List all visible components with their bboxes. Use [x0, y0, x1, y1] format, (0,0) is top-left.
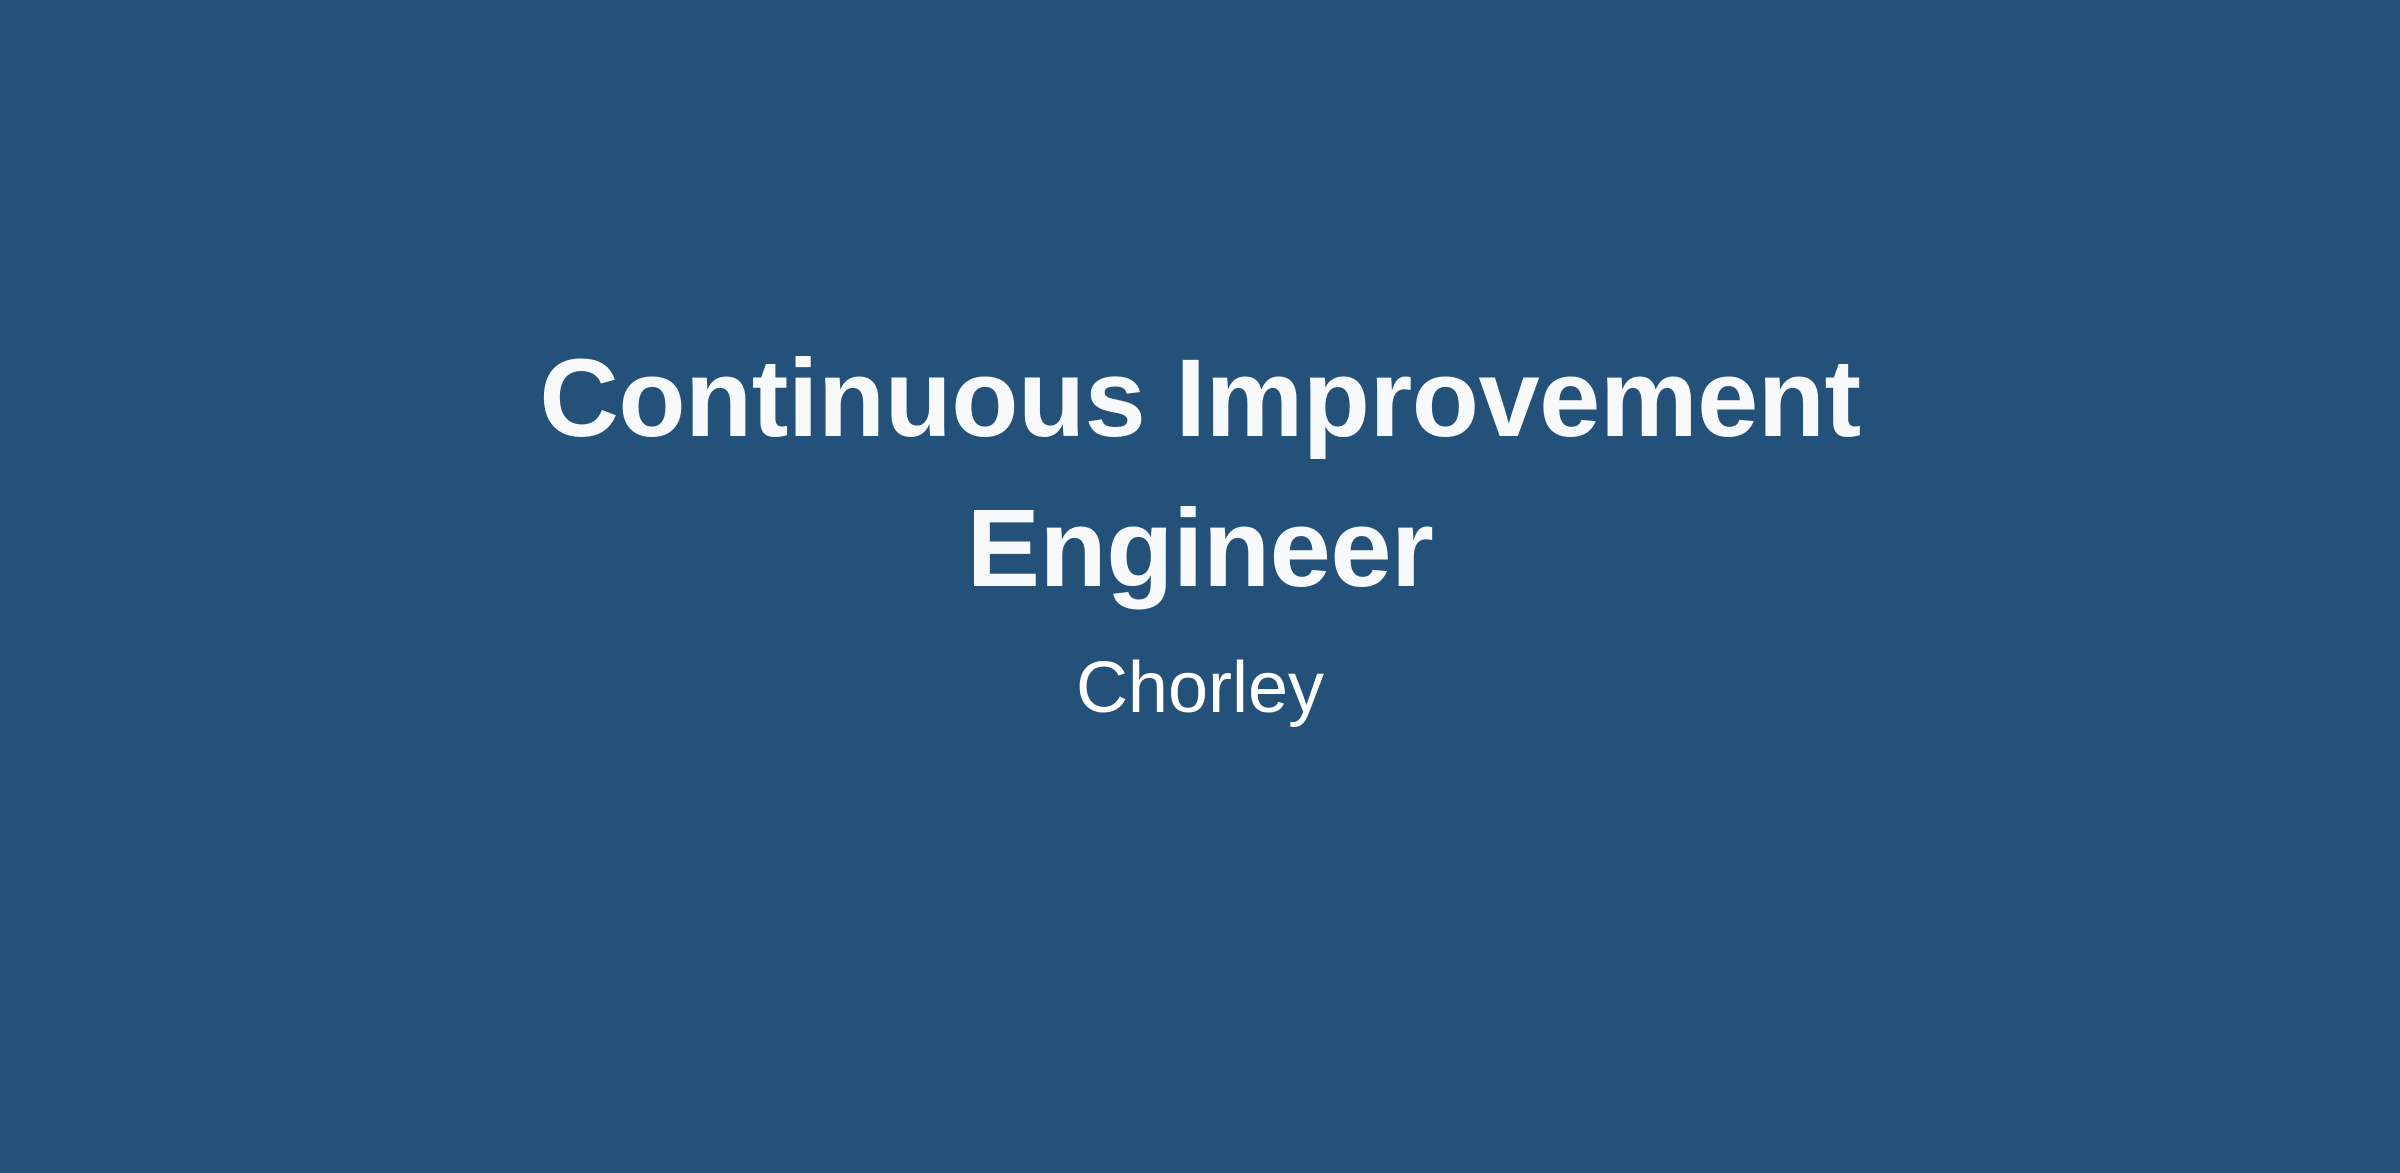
job-hero-banner: Continuous Improvement Engineer Chorley [0, 0, 2400, 1173]
hero-content: Continuous Improvement Engineer Chorley [420, 324, 1980, 730]
page-title: Continuous Improvement Engineer [420, 324, 1980, 624]
job-location-subtitle: Chorley [1076, 646, 1324, 730]
